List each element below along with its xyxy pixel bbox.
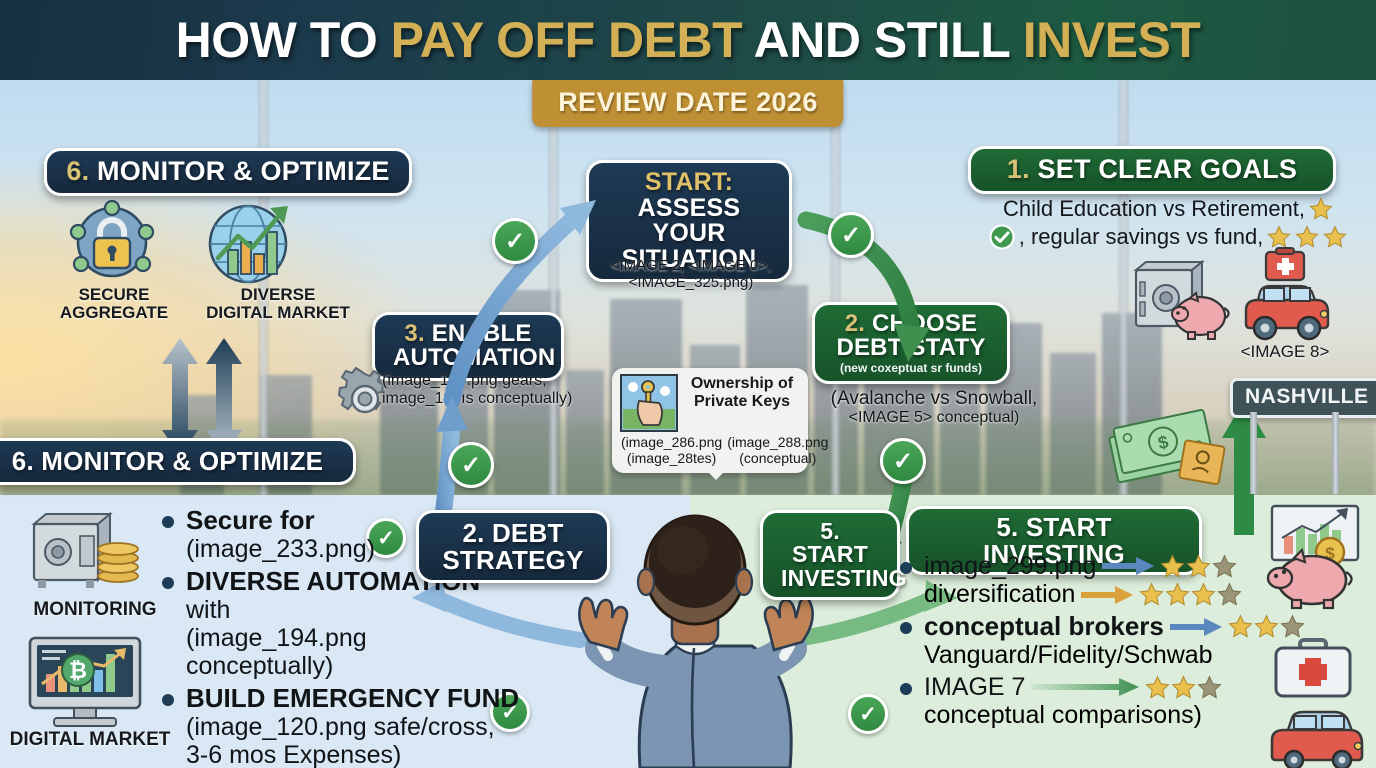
list-item: IMAGE 7	[898, 673, 1288, 701]
si-line1: 5. START	[781, 520, 879, 567]
step-label: MONITOR & OPTIMIZE	[89, 156, 389, 186]
pk-left-2: (image_28tes)	[621, 451, 722, 467]
check-badge: ✓	[448, 442, 494, 488]
panel-heading-monitor[interactable]: 6. MONITOR & OPTIMIZE	[0, 438, 356, 485]
goals-line1: Child Education vs Retirement,	[1003, 196, 1305, 222]
start-title-line2: ASSESS YOUR	[607, 196, 771, 247]
arrow-icon	[1031, 678, 1139, 696]
hand-key-icon	[621, 375, 677, 431]
step-number: 2.	[845, 310, 865, 337]
step-label: ENABLE	[425, 320, 532, 347]
step-number: 6.	[66, 156, 89, 186]
svg-text:₿: ₿	[69, 658, 87, 683]
investing-bullet-list: image_299.png diversification	[898, 552, 1288, 730]
check-badge: ✓	[848, 694, 888, 734]
title-part-4: INVEST	[1023, 12, 1201, 68]
private-keys-tooltip: Ownership of Private Keys (image_286.png…	[612, 368, 808, 473]
list-item: DIVERSE AUTOMATION with (image_194.png c…	[160, 567, 520, 680]
row-text: conceptual comparisons)	[924, 701, 1202, 729]
monitoring-label: MONITORING	[14, 600, 176, 621]
list-subitem: diversification	[898, 580, 1288, 609]
private-keys-title-1: Ownership of	[685, 375, 799, 393]
start-caption: <IMAGE 2, <IMAGE 0>, <IMAGE_325.png)	[580, 258, 802, 292]
title-part-2: PAY OFF DEBT	[391, 12, 754, 68]
check-badge: ✓	[828, 212, 874, 258]
star-icon	[1295, 225, 1319, 249]
step-number: 1.	[1007, 154, 1030, 184]
sign-post	[1332, 412, 1339, 494]
step-pill-choose-debt[interactable]: 2. CHOOSE DEBT STATY (new coxeptuat sr f…	[812, 302, 1010, 384]
start-title-line1: START:	[645, 168, 733, 196]
sign-post	[1250, 412, 1257, 494]
chart-piggy-bank-icon: $	[1258, 504, 1368, 608]
row-text: conceptual brokers	[924, 612, 1164, 641]
choose-debt-caption: (Avalanche vs Snowball, <IMAGE 5> concep…	[808, 388, 1060, 428]
pk-right-1: (image_288.png	[727, 435, 828, 451]
safe-coins-icon	[28, 510, 144, 594]
set-clear-goals-body: Child Education vs Retirement, , regular…	[990, 196, 1346, 250]
safe-piggy-icon	[1128, 256, 1232, 342]
star-rating	[1139, 582, 1242, 607]
step-pill-set-clear-goals[interactable]: 1. SET CLEAR GOALS	[968, 146, 1336, 194]
goals-line2: , regular savings vs fund,	[1019, 224, 1264, 250]
panel-heading-label: MONITOR & OPTIMIZE	[34, 446, 323, 476]
star-icon	[1309, 197, 1333, 221]
pk-left-1: (image_286.png	[621, 435, 722, 451]
arrow-icon	[1102, 557, 1154, 575]
step-sublabel: (new coxeptuat sr funds)	[833, 362, 989, 374]
row-text: image_299.png	[924, 552, 1096, 580]
image8-caption: <IMAGE 8>	[1222, 342, 1348, 361]
list-item: BUILD EMERGENCY FUND (image_120.png safe…	[160, 684, 520, 768]
star-rating	[1145, 675, 1222, 700]
cash-bills-icon: $	[1106, 400, 1234, 492]
star-rating	[1160, 554, 1237, 579]
header-bar: HOW TO PAY OFF DEBT AND STILL INVEST	[0, 0, 1376, 80]
title-part-3: AND STILL	[754, 12, 1023, 68]
step-pill-start-investing-center[interactable]: 5. START INVESTING	[760, 510, 900, 600]
step-label-2: AUTOMATION	[393, 346, 543, 370]
pk-right-2: (conceptual)	[727, 451, 828, 467]
list-item: conceptual brokers	[898, 612, 1288, 641]
window-mullion	[548, 80, 559, 495]
step-pill-enable-automation[interactable]: 3. ENABLE AUTOMATION	[372, 312, 564, 381]
step-number: 3.	[404, 320, 424, 347]
star-rating	[1228, 614, 1305, 639]
title-part-1: HOW TO	[176, 12, 391, 68]
row-text: IMAGE 7	[924, 673, 1025, 701]
step-label: CHOOSE	[865, 310, 977, 337]
page-title: HOW TO PAY OFF DEBT AND STILL INVEST	[176, 11, 1201, 69]
enable-automation-caption: (image_120.png gears, image_194ıs concep…	[382, 372, 610, 408]
check-icon	[989, 224, 1015, 250]
digital-market-label: DIGITAL MARKET	[4, 730, 176, 751]
si-line2: INVESTING	[781, 567, 879, 590]
star-icon	[1323, 225, 1347, 249]
lock-globe-icon	[62, 198, 162, 286]
window-mullion	[830, 80, 841, 495]
panel-heading-number: 5.	[996, 512, 1018, 542]
check-badge: ✓	[880, 438, 926, 484]
review-date-badge: REVIEW DATE 2026	[532, 80, 843, 127]
globe-chart-label: DIVERSE DIGITAL MARKET	[178, 286, 378, 323]
list-item: image_299.png	[898, 552, 1288, 580]
step-label: SET CLEAR GOALS	[1030, 154, 1297, 184]
star-icon	[1267, 225, 1291, 249]
list-subitem: conceptual comparisons)	[898, 701, 1288, 730]
car-medical-icon	[1238, 248, 1334, 342]
step-pill-monitor-top[interactable]: 6. MONITOR & OPTIMIZE	[44, 148, 412, 196]
list-subitem: Vanguard/Fidelity/Schwab	[898, 641, 1288, 670]
arrow-icon	[1081, 586, 1133, 604]
check-badge: ✓	[492, 218, 538, 264]
panel-heading-number: 6.	[12, 446, 34, 476]
first-aid-kit-icon	[1272, 640, 1354, 700]
row-text: Vanguard/Fidelity/Schwab	[924, 641, 1213, 669]
row-text: diversification	[924, 580, 1075, 609]
private-keys-title-2: Private Keys	[685, 393, 799, 411]
lock-globe-label: SECURE AGGREGATE	[40, 286, 188, 323]
red-car-icon	[1266, 706, 1366, 768]
bitcoin-monitor-icon: ₿	[26, 636, 144, 728]
step-label-2: DEBT STATY	[833, 336, 989, 360]
infographic-canvas: HOW TO PAY OFF DEBT AND STILL INVEST REV…	[0, 0, 1376, 768]
globe-chart-icon	[198, 198, 304, 286]
arrow-icon	[1170, 618, 1222, 636]
